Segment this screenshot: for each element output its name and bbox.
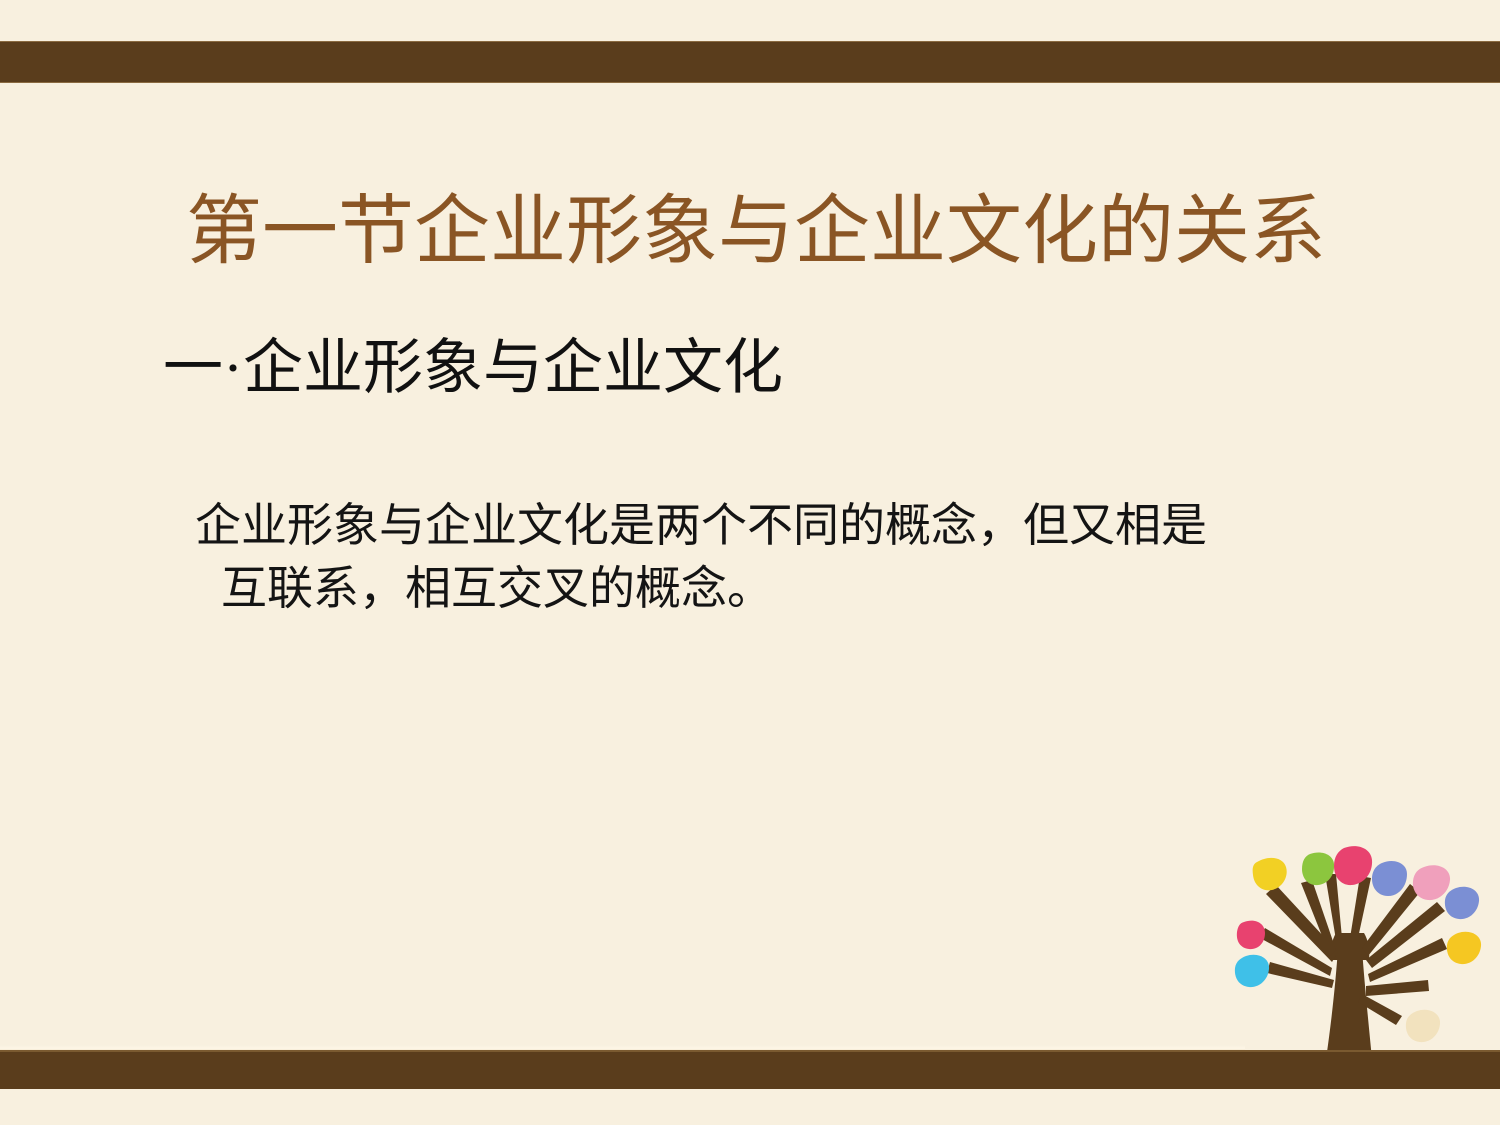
bottom-decorative-band <box>0 1050 1500 1089</box>
blossom-blue-right <box>1445 887 1479 919</box>
slide-canvas: 第一节企业形象与企业文化的关系 一·企业形象与企业文化 企业形象与企业文化是两个… <box>0 0 1500 1125</box>
blossom-yellow-left <box>1253 858 1287 890</box>
body-line-1: 企业形象与企业文化是两个不同的概念，但又相是 <box>195 500 1207 551</box>
section-subtitle: 一·企业形象与企业文化 <box>163 335 783 401</box>
body-paragraph: 企业形象与企业文化是两个不同的概念，但又相是互联系，相互交叉的概念。 <box>195 494 1320 621</box>
blossom-cream <box>1406 1010 1440 1042</box>
branch-right-low <box>1366 980 1429 996</box>
branch-center-right <box>1350 876 1371 938</box>
blossom-blue-top <box>1372 861 1407 896</box>
blossom-cyan <box>1235 955 1269 987</box>
blossom-yellow-right <box>1447 932 1481 964</box>
body-line-2: 互联系，相互交叉的概念。 <box>195 557 1320 620</box>
blossom-pink <box>1413 865 1450 900</box>
blossom-magenta-left <box>1237 921 1265 949</box>
page-title: 第一节企业形象与企业文化的关系 <box>186 191 1316 273</box>
top-decorative-band <box>0 41 1500 83</box>
